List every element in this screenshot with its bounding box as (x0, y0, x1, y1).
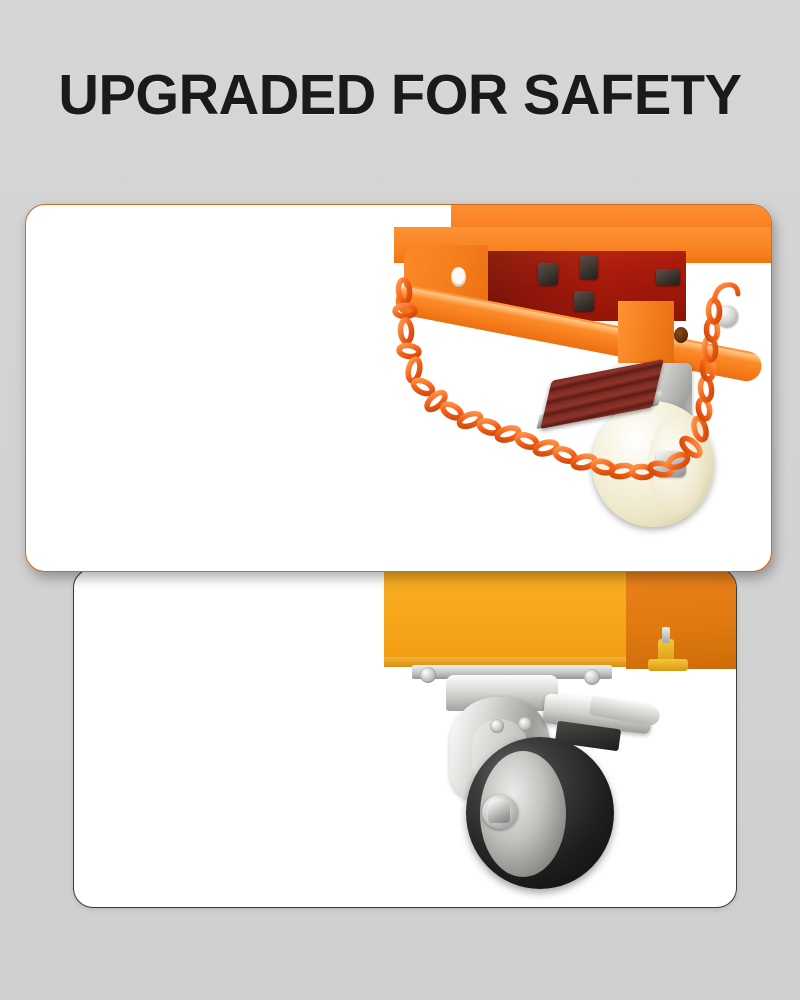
others-product-photo (384, 569, 736, 907)
others-frame-bolt-base (648, 659, 688, 671)
others-fork-rivet (518, 717, 532, 731)
ours-product-photo (356, 205, 771, 569)
others-axle-nut (488, 801, 510, 823)
others-comparison-card (73, 568, 737, 908)
ours-locking-chain (356, 275, 771, 505)
others-frame-side-face (626, 569, 736, 669)
ours-comparison-card (25, 204, 772, 572)
others-fork-rivet (490, 719, 504, 733)
others-frame-bolt-stem (662, 627, 670, 643)
others-frame-body (384, 569, 626, 665)
infographic-canvas: UPGRADED FOR SAFETY (0, 0, 800, 1000)
others-plate-rivet (420, 667, 436, 683)
others-plate-rivet (584, 669, 600, 685)
page-title: UPGRADED FOR SAFETY (6, 64, 794, 126)
